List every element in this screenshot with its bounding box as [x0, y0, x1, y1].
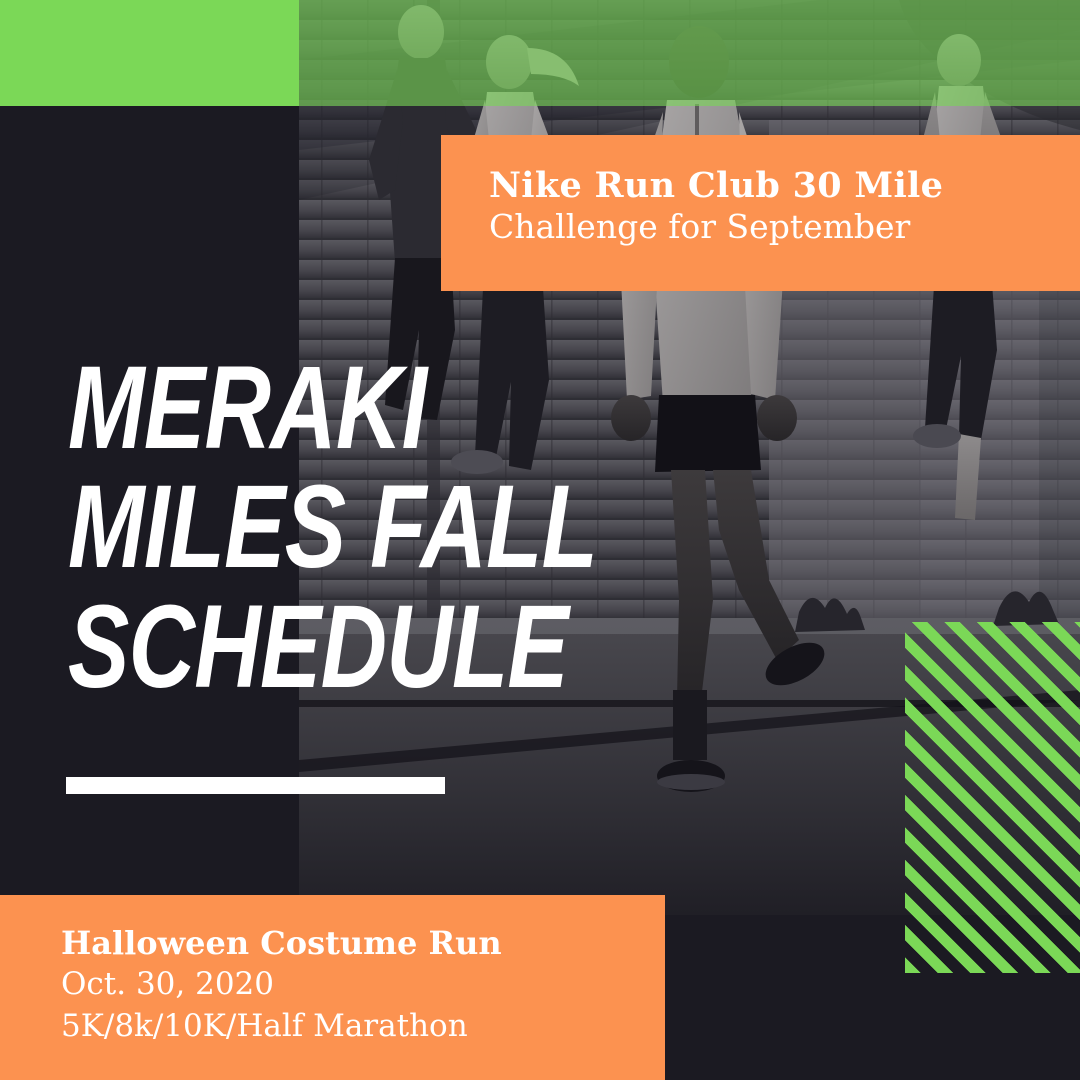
title-line-1: MERAKI [68, 358, 614, 459]
event-name: Halloween Costume Run [61, 923, 665, 964]
challenge-subtitle: Challenge for September [489, 206, 1080, 249]
diagonal-stripes-decoration [905, 622, 1080, 973]
event-date: Oct. 30, 2020 [61, 964, 665, 1006]
title-line-2: MILES FALL [68, 477, 614, 578]
page-title: MERAKI MILES FALL SCHEDULE [68, 358, 768, 698]
event-distances: 5K/8k/10K/Half Marathon [61, 1006, 665, 1048]
green-photo-overlay [299, 0, 1080, 106]
green-top-bar [0, 0, 299, 106]
title-line-3: SCHEDULE [68, 597, 614, 698]
challenge-title: Nike Run Club 30 Mile [489, 165, 1080, 206]
poster-canvas: Nike Run Club 30 Mile Challenge for Sept… [0, 0, 1080, 1080]
title-underline-rule [66, 777, 445, 794]
event-details-banner: Halloween Costume Run Oct. 30, 2020 5K/8… [0, 895, 665, 1080]
challenge-banner: Nike Run Club 30 Mile Challenge for Sept… [441, 135, 1080, 291]
